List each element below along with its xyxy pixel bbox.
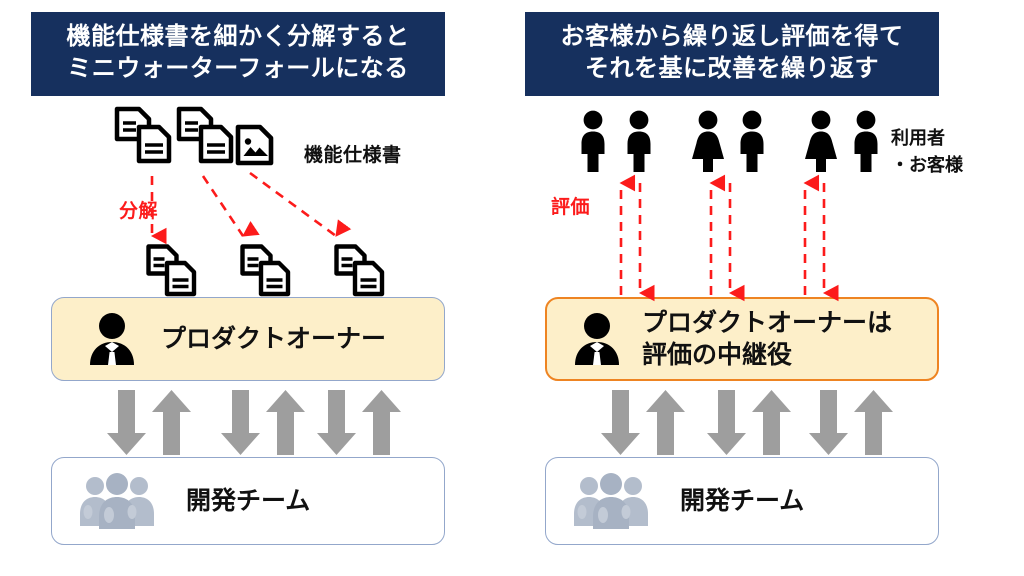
- person-female-icon-2: [803, 110, 839, 177]
- feedback-label: 評価: [551, 192, 590, 219]
- users-label-line2: ・お客様: [891, 152, 963, 179]
- split-doc-3: [333, 243, 387, 303]
- right-title-line2: それを基に改善を繰り返す: [531, 53, 933, 85]
- left-dev-team-label: 開発チーム: [186, 485, 310, 517]
- right-title-line1: お客様から繰り返し評価を得て: [531, 21, 933, 53]
- decompose-label: 分解: [119, 196, 158, 223]
- people-group-icon: [572, 472, 650, 530]
- users-label-line1: 利用者: [891, 125, 963, 152]
- person-male-icon-3: [736, 110, 768, 177]
- spec-doc-image: [234, 124, 278, 171]
- right-panel: お客様から繰り返し評価を得て それを基に改善を繰り返す: [514, 0, 984, 576]
- right-po-line1: プロダクトオーナーは: [642, 307, 892, 339]
- right-po-line2: 評価の中継役: [642, 339, 892, 371]
- people-group-icon: [78, 472, 156, 530]
- left-team-line1: 開発チーム: [186, 485, 310, 517]
- left-panel: 機能仕様書を細かく分解すると ミニウォーターフォールになる: [20, 0, 490, 576]
- person-suit-icon: [570, 311, 624, 367]
- person-suit-icon: [85, 311, 139, 367]
- right-product-owner-box[interactable]: プロダクトオーナーは 評価の中継役: [545, 297, 939, 381]
- right-dev-team-box[interactable]: 開発チーム: [545, 457, 939, 545]
- right-product-owner-label: プロダクトオーナーは 評価の中継役: [642, 307, 892, 371]
- diagram-canvas: 機能仕様書を細かく分解すると ミニウォーターフォールになる: [0, 0, 1024, 576]
- left-po-line1: プロダクトオーナー: [161, 323, 386, 355]
- person-male-icon-1: [577, 110, 609, 177]
- right-panel-title: お客様から繰り返し評価を得て それを基に改善を繰り返す: [525, 12, 939, 96]
- person-male-icon-2: [623, 110, 655, 177]
- right-team-line1: 開発チーム: [680, 485, 804, 517]
- spec-doc-stack-1: [113, 105, 175, 170]
- spec-doc-stack-2: [175, 105, 237, 170]
- left-panel-title: 機能仕様書を細かく分解すると ミニウォーターフォールになる: [31, 12, 445, 96]
- users-label: 利用者 ・お客様: [891, 125, 963, 179]
- left-product-owner-label: プロダクトオーナー: [161, 323, 386, 355]
- left-title-line1: 機能仕様書を細かく分解すると: [37, 21, 439, 53]
- spec-document-label: 機能仕様書: [304, 140, 402, 167]
- left-title-line2: ミニウォーターフォールになる: [37, 53, 439, 85]
- left-product-owner-box[interactable]: プロダクトオーナー: [51, 297, 445, 381]
- person-female-icon-1: [690, 110, 726, 177]
- person-male-icon-4: [850, 110, 882, 177]
- left-dev-team-box[interactable]: 開発チーム: [51, 457, 445, 545]
- split-doc-1: [145, 243, 199, 303]
- split-doc-2: [239, 243, 293, 303]
- right-dev-team-label: 開発チーム: [680, 485, 804, 517]
